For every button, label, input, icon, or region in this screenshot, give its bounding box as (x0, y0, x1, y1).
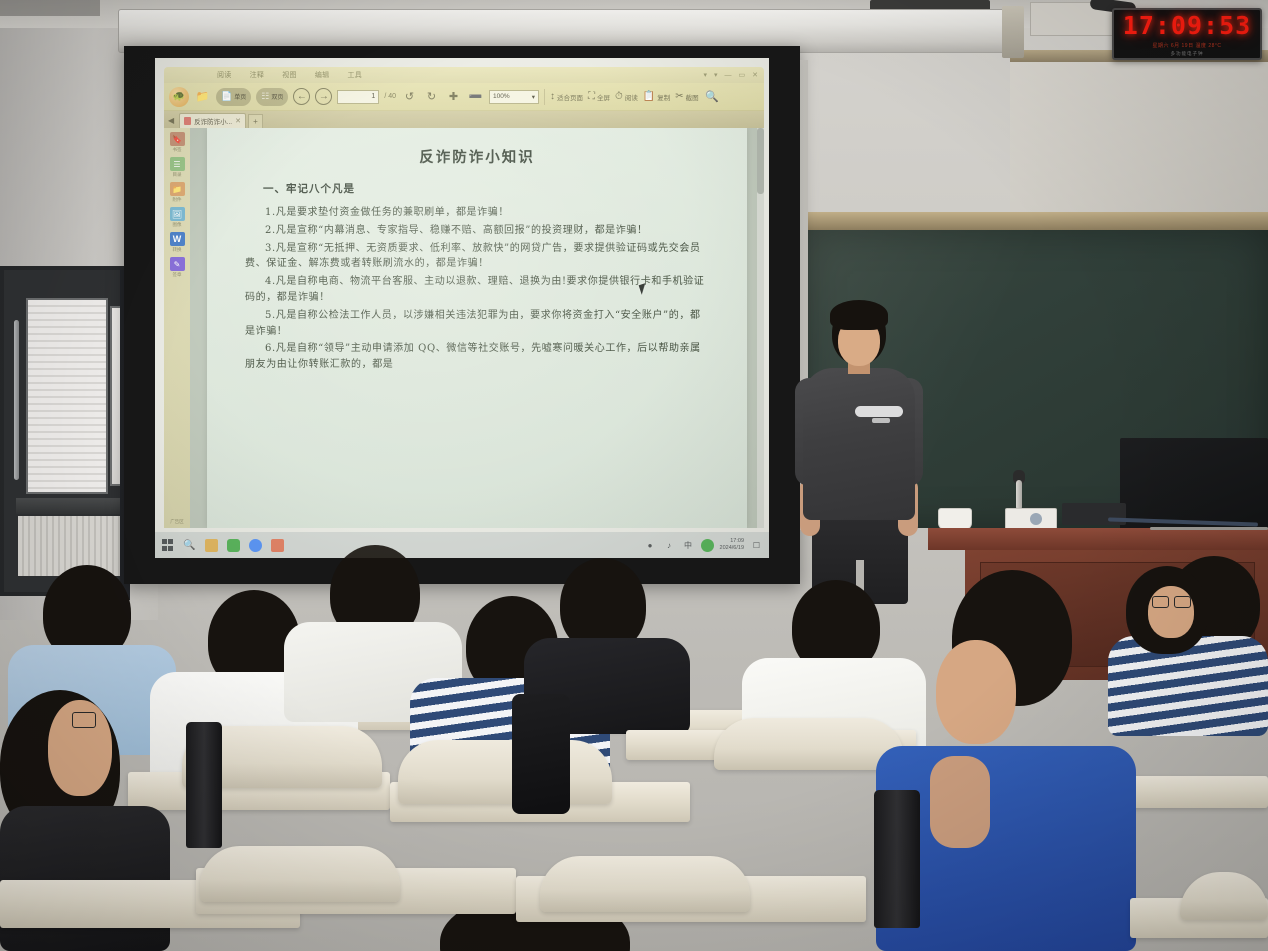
sidebar-label-bookmark: 书签 (173, 147, 182, 153)
sidebar-item-outline[interactable]: ☰ 目录 (170, 157, 185, 178)
zoom-in-icon[interactable]: ✚ (445, 87, 462, 106)
student-torso-a7-striped (1108, 636, 1268, 736)
menu-item-tools[interactable]: 工具 (347, 70, 362, 80)
chair-back-5 (540, 856, 750, 912)
zoom-out-icon[interactable]: ➖ (467, 87, 484, 106)
podium-desktop (928, 528, 1268, 550)
search-icon[interactable]: 🔍 (704, 87, 721, 106)
fit-page-icon: ↕ (550, 91, 555, 102)
maximize-icon[interactable]: ▭ (739, 71, 746, 79)
sidebar-label-attachment: 附件 (173, 197, 182, 203)
reader-logo-icon: 🐢 (169, 87, 189, 107)
signature-icon: ✎ (170, 257, 185, 271)
reader-icon[interactable] (271, 539, 284, 552)
led-clock-time: 17:09:53 (1123, 11, 1251, 40)
glasses-left-lens (1152, 596, 1169, 608)
rotate-right-icon[interactable]: ↻ (423, 87, 440, 106)
presenter-torso (803, 368, 915, 520)
led-clock-brand: 多功能电子钟 (1171, 51, 1204, 57)
fit-width-label: 全屏 (597, 92, 610, 102)
windows-taskbar[interactable]: 🔍 ● ♪ 中 17:09 2024/6/19 ☐ (155, 532, 769, 558)
front-right-hand (930, 756, 990, 848)
window-handle[interactable] (14, 320, 19, 480)
document-title: 反诈防诈小知识 (245, 146, 709, 167)
projection-screen-surface[interactable]: 阅读 注释 视图 编辑 工具 ▾ ▾ — ▭ ✕ 🐢 📁 📄 (155, 58, 769, 558)
sidebar-item-convert[interactable]: W 转换 (170, 232, 185, 253)
classroom-window (0, 266, 130, 596)
menu-item-edit[interactable]: 编辑 (315, 70, 330, 80)
document-tab[interactable]: 反诈防诈小... ✕ (179, 113, 246, 128)
reading-mode-label: 阅读 (625, 92, 638, 102)
presenter-hair (830, 300, 888, 330)
sidebar-label-signature: 签章 (173, 272, 182, 278)
win-ctrl-0[interactable]: ▾ (703, 71, 707, 79)
copy-button[interactable]: 📋 复制 (643, 91, 670, 102)
fit-page-button[interactable]: ↕ 适合页面 (550, 91, 583, 102)
app-toolbar[interactable]: 🐢 📁 📄 单页 ☷ 双页 ← → 1 / 40 ↺ ↻ ✚ ➖ (164, 83, 764, 111)
close-icon[interactable]: ✕ (752, 71, 758, 79)
folder-icon: 📁 (170, 182, 185, 196)
scrollbar-thumb[interactable] (757, 128, 764, 194)
sidebar-label-image: 图像 (173, 222, 182, 228)
snapshot-label: 截图 (686, 92, 699, 102)
sidebar-label-outline: 目录 (173, 172, 182, 178)
window-controls[interactable]: ▾ ▾ — ▭ ✕ (703, 67, 758, 83)
volume-icon[interactable]: ♪ (663, 539, 676, 552)
student-face-a8 (1148, 586, 1194, 638)
chair-back-2 (398, 740, 612, 804)
upper-wall-panel (1010, 62, 1268, 212)
document-paragraph-3: 3.凡是宣称“无抵押、无资质要求、低利率、放款快”的网贷广告，要求提供验证码或先… (245, 241, 709, 273)
menu-item-annotate[interactable]: 注释 (250, 70, 265, 80)
microphone-stem (1016, 480, 1022, 510)
copy-icon: 📋 (643, 91, 655, 102)
presenter-shirt-logo-sub (872, 418, 890, 423)
podium-monitor (1120, 438, 1268, 530)
document-heading: 一、牢记八个凡是 (263, 181, 709, 196)
window-blinds (26, 298, 108, 494)
front-left-glasses (72, 712, 96, 728)
chalk-tray-rail (806, 212, 1268, 230)
pdf-reader-window[interactable]: 阅读 注释 视图 编辑 工具 ▾ ▾ — ▭ ✕ 🐢 📁 📄 (155, 58, 769, 558)
ceiling-vent (0, 0, 100, 16)
document-page: 反诈防诈小知识 一、牢记八个凡是 1.凡是要求垫付资金做任务的兼职刷单，都是诈骗… (207, 128, 747, 528)
podium-cable-2 (1150, 527, 1268, 530)
clock-icon: ⏱ (615, 91, 623, 102)
document-tab-label: 反诈防诈小... (194, 116, 232, 126)
taskbar-clock-date: 2024/6/19 (720, 545, 744, 552)
app-tabbar[interactable]: ◀ 反诈防诈小... ✕ + (164, 111, 764, 128)
pdf-file-icon (184, 117, 191, 125)
student-torso-front-left (0, 806, 170, 951)
chevron-left-icon[interactable]: ◀ (168, 116, 177, 128)
outline-icon: ☰ (170, 157, 185, 171)
led-clock-subtext: 星期六 6月 19日 温度 28°C (1152, 42, 1221, 49)
wechat-icon[interactable] (227, 539, 240, 552)
sidebar-item-attachment[interactable]: 📁 附件 (170, 182, 185, 203)
student-face-front-right (936, 640, 1016, 744)
shield-icon[interactable] (701, 539, 714, 552)
taskbar-tray[interactable]: ● ♪ 中 17:09 2024/6/19 ☐ (644, 538, 763, 553)
backpack-strap (512, 694, 570, 814)
win-ctrl-1[interactable]: ▾ (714, 71, 718, 79)
image-icon: 🖼 (170, 207, 185, 221)
search-icon[interactable]: 🔍 (183, 539, 196, 552)
document-scrollbar[interactable] (757, 128, 764, 528)
document-paragraph-1: 1.凡是要求垫付资金做任务的兼职刷单，都是诈骗！ (245, 205, 709, 221)
tab-close-icon[interactable]: ✕ (235, 117, 241, 125)
toolbar-divider (544, 89, 545, 105)
zoom-level-select[interactable]: 100% ▾ (489, 90, 539, 104)
chair-back-4 (200, 846, 400, 902)
sidebar-item-image[interactable]: 🖼 图像 (170, 207, 185, 228)
microphone-logo (1030, 513, 1042, 525)
bookmark-icon: 🔖 (170, 132, 185, 146)
fit-page-label: 适合页面 (557, 92, 583, 102)
presenter-shirt-logo (855, 406, 903, 417)
menu-item-view[interactable]: 视图 (282, 70, 297, 80)
classroom-scene: 17:09:53 星期六 6月 19日 温度 28°C 多功能电子钟 阅读 注释… (0, 0, 1268, 951)
page-total-label: / 40 (384, 93, 396, 100)
document-viewport[interactable]: 反诈防诈小知识 一、牢记八个凡是 1.凡是要求垫付资金做任务的兼职刷单，都是诈骗… (190, 128, 764, 528)
copy-label: 复制 (657, 92, 670, 102)
taskbar-clock-time: 17:09 (730, 538, 744, 545)
document-paragraph-6: 6.凡是自称“领导”主动申请添加 QQ、微信等社交账号，先嘘寒问暖关心工作，后以… (245, 341, 709, 373)
cut-icon: ✂ (675, 91, 683, 102)
led-wall-clock: 17:09:53 星期六 6月 19日 温度 28°C 多功能电子钟 (1112, 8, 1262, 60)
sidebar-item-signature[interactable]: ✎ 签章 (170, 257, 185, 278)
sidebar-footer-label: 广告区 (170, 519, 184, 528)
new-tab-button[interactable]: + (248, 114, 263, 128)
app-sidebar[interactable]: 🔖 书签 ☰ 目录 📁 附件 🖼 图像 (164, 128, 190, 528)
paper-cup (938, 508, 972, 530)
menu-item-read[interactable]: 阅读 (217, 70, 232, 80)
sidebar-item-bookmark[interactable]: 🔖 书签 (170, 132, 185, 153)
network-icon[interactable]: ● (644, 539, 657, 552)
minimize-icon[interactable]: — (725, 72, 732, 79)
folder-open-icon[interactable]: 📁 (194, 87, 211, 106)
notification-icon[interactable]: ☐ (750, 539, 763, 552)
page-mode-double-label: 双页 (271, 92, 283, 101)
thermos-bottle-1 (186, 722, 222, 848)
windows-start-icon[interactable] (161, 539, 174, 552)
document-paragraph-2: 2.凡是宣称“内幕消息、专家指导、稳赚不赔、高额回报”的投资理财，都是诈骗！ (245, 223, 709, 239)
zoom-level-value: 100% (493, 93, 510, 100)
chair-back-3 (714, 718, 904, 770)
arrow-left-icon[interactable]: ← (293, 88, 310, 105)
browser-icon[interactable] (249, 539, 262, 552)
reading-mode-button[interactable]: ⏱ 阅读 (615, 91, 638, 102)
sidebar-label-convert: 转换 (173, 247, 182, 253)
document-paragraph-5: 5.凡是自称公检法工作人员，以涉嫌相关违法犯罪为由，要求你将资金打入“安全账户”… (245, 308, 709, 340)
explorer-icon[interactable] (205, 539, 218, 552)
taskbar-clock[interactable]: 17:09 2024/6/19 (720, 538, 744, 553)
glasses-right-lens (1174, 596, 1191, 608)
page-number-input[interactable]: 1 (337, 90, 379, 104)
page-mode-double-button[interactable]: ☷ 双页 (256, 88, 288, 106)
app-menubar[interactable]: 阅读 注释 视图 编辑 工具 ▾ ▾ — ▭ ✕ (164, 67, 764, 83)
roller-end-cap (1002, 6, 1024, 58)
page-mode-single-label: 单页 (234, 92, 246, 101)
app-body: 🔖 书签 ☰ 目录 📁 附件 🖼 图像 (164, 128, 764, 528)
rotate-left-icon[interactable]: ↺ (401, 87, 418, 106)
arrow-right-icon[interactable]: → (315, 88, 332, 105)
window-sill (16, 498, 134, 514)
ime-icon[interactable]: 中 (682, 539, 695, 552)
fit-width-button[interactable]: ⛶ 全屏 (588, 91, 610, 102)
snapshot-button[interactable]: ✂ 截图 (675, 91, 698, 102)
fit-width-icon: ⛶ (588, 91, 595, 102)
chevron-down-icon[interactable]: ▾ (532, 93, 535, 101)
thermos-bottle-2 (874, 790, 920, 928)
word-icon: W (170, 232, 185, 246)
page-mode-single-button[interactable]: 📄 单页 (216, 88, 251, 106)
